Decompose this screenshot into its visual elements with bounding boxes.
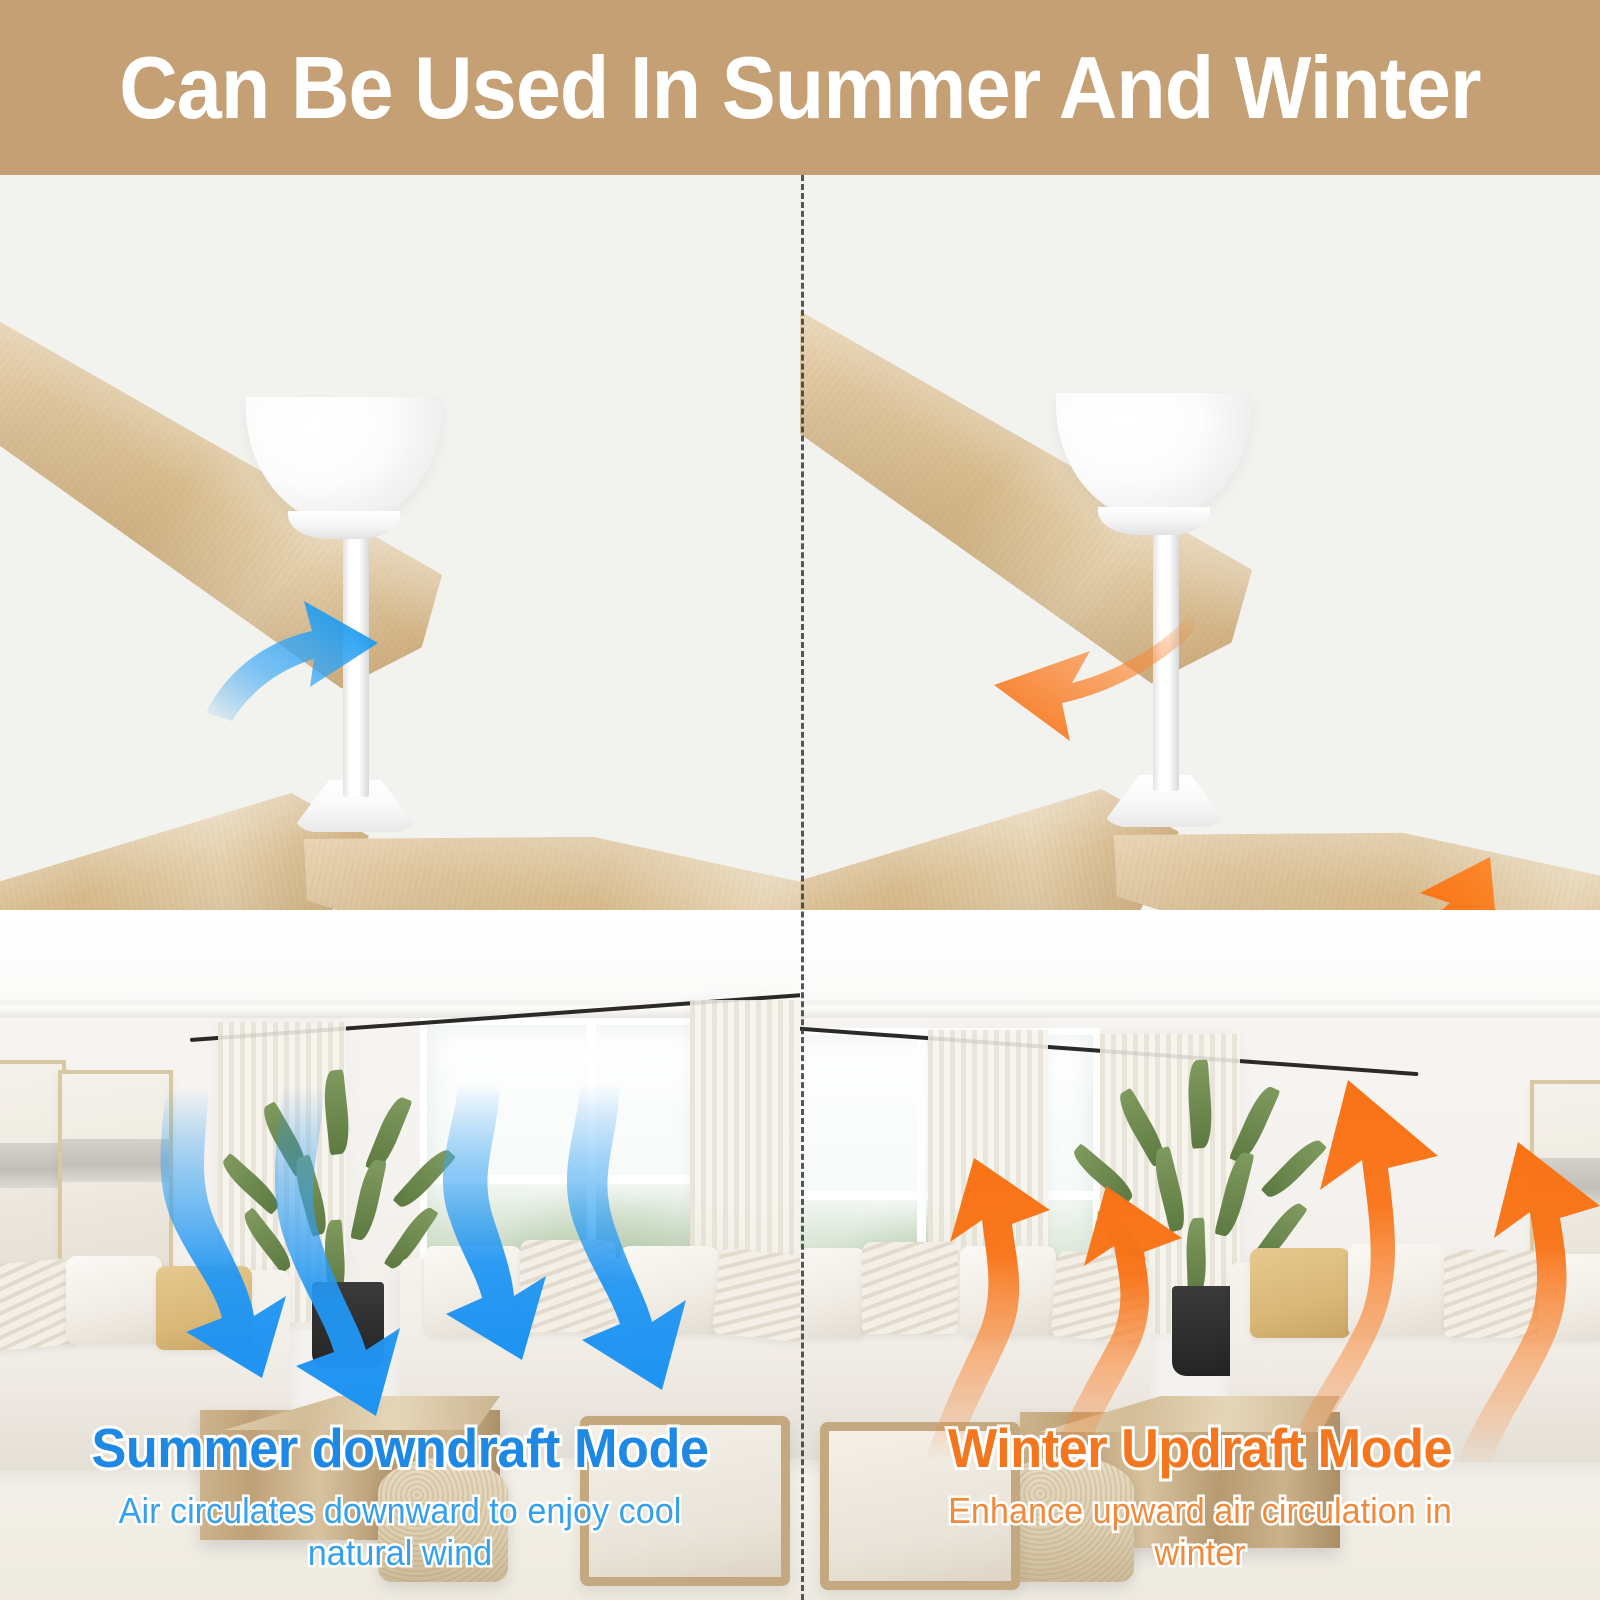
cushion <box>66 1256 162 1344</box>
fan-downrod <box>1153 503 1179 791</box>
cushion <box>520 1240 616 1332</box>
cushion <box>0 1258 76 1352</box>
cushion <box>800 1248 866 1338</box>
cushion <box>1348 1244 1446 1336</box>
cushion-accent <box>156 1266 252 1350</box>
room-scene-winter: Winter Updraft Mode Enhance upward air c… <box>800 910 1600 1600</box>
panel-winter: Winter Updraft Mode Enhance upward air c… <box>800 175 1600 1600</box>
panel-divider <box>801 175 804 1600</box>
cushion <box>712 1247 800 1342</box>
cushion <box>620 1246 718 1334</box>
product-photo-summer <box>0 175 800 935</box>
crown-molding <box>0 1006 800 1018</box>
room-scene-summer: Summer downdraft Mode Air circulates dow… <box>0 910 800 1600</box>
cushion <box>424 1246 522 1336</box>
page-title: Can Be Used In Summer And Winter <box>119 37 1480 139</box>
canopy-trim-ring <box>1098 507 1210 535</box>
cushion <box>1050 1250 1149 1344</box>
crown-molding <box>800 1006 1600 1018</box>
comparison-stage: Summer downdraft Mode Air circulates dow… <box>0 175 1600 1600</box>
panel-summer: Summer downdraft Mode Air circulates dow… <box>0 175 800 1600</box>
canopy-trim-ring <box>288 511 400 539</box>
fan-downrod <box>343 507 369 797</box>
mode-title-winter: Winter Updraft Mode <box>820 1420 1580 1478</box>
caption-winter: Winter Updraft Mode Enhance upward air c… <box>800 1420 1600 1575</box>
product-photo-winter <box>800 175 1600 935</box>
header-banner: Can Be Used In Summer And Winter <box>0 0 1600 175</box>
mode-description-winter: Enhance upward air circulation in winter <box>820 1490 1580 1575</box>
caption-summer: Summer downdraft Mode Air circulates dow… <box>0 1420 800 1575</box>
mode-description-summer: Air circulates downward to enjoy cool na… <box>20 1490 780 1575</box>
cushion <box>1538 1254 1600 1340</box>
cushion-accent <box>1250 1248 1350 1338</box>
cushion <box>960 1246 1056 1336</box>
wall-art-left <box>0 1060 66 1275</box>
cushion <box>862 1242 958 1334</box>
cushion <box>1444 1250 1540 1338</box>
mode-title-summer: Summer downdraft Mode <box>20 1420 780 1478</box>
wall-art-right <box>58 1070 173 1275</box>
